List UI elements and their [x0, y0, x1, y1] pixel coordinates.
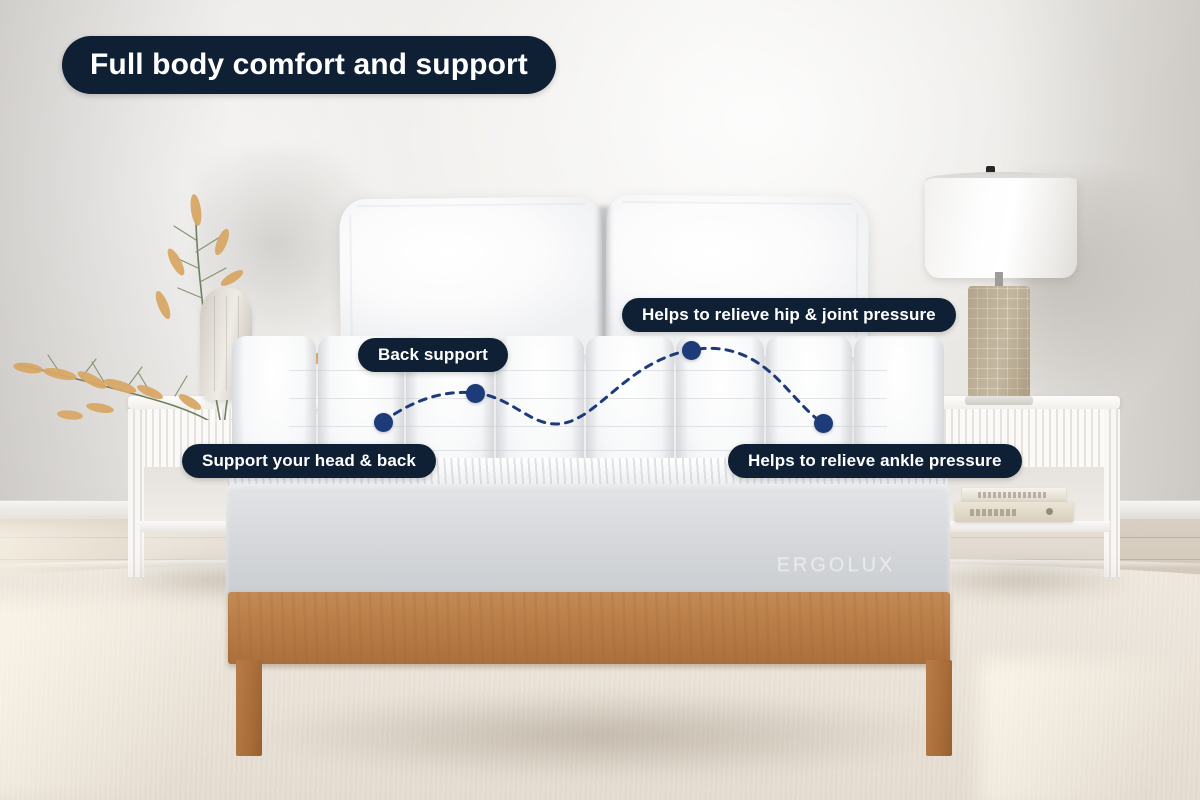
book-top-title: [978, 492, 1048, 498]
curve-point-head-back: [374, 413, 393, 432]
product-hero-image: ERGOLUX Full body comfort and support Ba…: [0, 0, 1200, 800]
headline-pill: Full body comfort and support: [62, 36, 556, 94]
pillow-right: [605, 195, 868, 357]
bed-frame-rail: [228, 592, 950, 664]
lamp-base: [968, 286, 1030, 398]
book-bottom-dot: [1046, 508, 1053, 515]
pillow-gap-shadow: [596, 206, 612, 356]
callout-hip-joint-pressure: Helps to relieve hip & joint pressure: [622, 298, 956, 332]
brand-logo: ERGOLUX: [766, 552, 906, 578]
callout-head-and-back: Support your head & back: [182, 444, 436, 478]
bed-frame-leg-right: [926, 660, 952, 756]
lamp-foot: [965, 396, 1033, 405]
callout-ankle-pressure: Helps to relieve ankle pressure: [728, 444, 1022, 478]
curve-point-ankle: [814, 414, 833, 433]
curve-point-back: [466, 384, 485, 403]
mattress-base: [226, 484, 950, 596]
bed-frame-leg-left: [236, 660, 262, 756]
callout-back-support: Back support: [358, 338, 508, 372]
pillow-left: [339, 197, 603, 358]
curve-point-hip-joint: [682, 341, 701, 360]
lamp-shade: [925, 178, 1077, 278]
book-bottom-title: [970, 509, 1018, 516]
